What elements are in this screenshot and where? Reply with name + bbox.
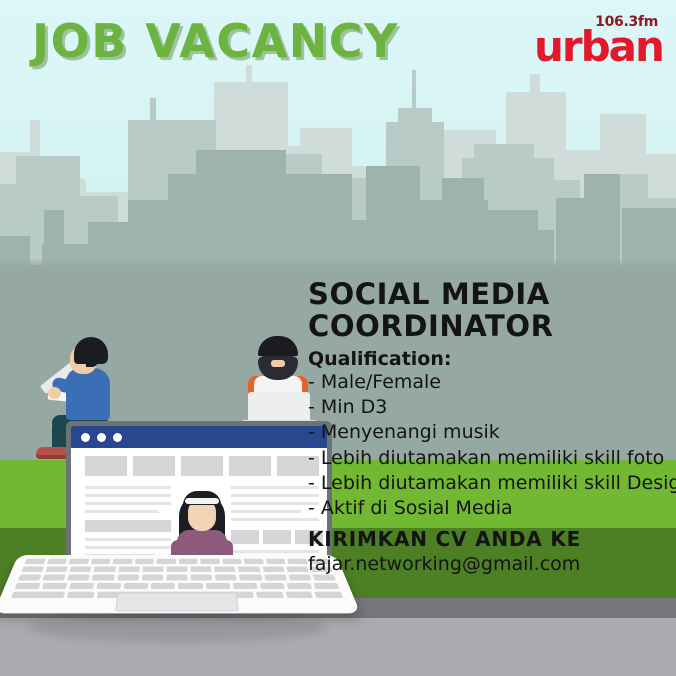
person1-hand [48,387,61,399]
cta-heading: KIRIMKAN CV ANDA KE [308,527,676,551]
list-item: - Lebih diutamakan memiliki skill foto [308,446,676,471]
page-title: JOB VACANCY [32,14,399,68]
list-item: - Min D3 [308,395,676,420]
list-item: - Male/Female [308,370,676,395]
list-item: - Menyenangi musik [308,420,676,445]
contact-block: KIRIMKAN CV ANDA KE fajar.networking@gma… [308,527,676,575]
job-title-line-1: SOCIAL MEDIA [308,278,676,310]
qualification-list: - Male/Female - Min D3 - Menyenangi musi… [308,370,676,522]
list-item: - Lebih diutamakan memiliki skill Design [308,471,676,496]
person2-mouth [271,360,285,367]
browser-dot-icon [97,433,106,442]
laptop-keyboard [3,555,351,591]
list-item: - Aktif di Sosial Media [308,496,676,521]
qualification-heading: Qualification: [308,348,676,370]
radio-brand-name: urban [534,26,663,68]
browser-dot-icon [113,433,122,442]
laptop-shadow [28,612,328,642]
job-vacancy-poster: JOB VACANCY 106.3fm urban [0,0,676,676]
job-title-line-2: COORDINATOR [308,310,676,342]
contact-email[interactable]: fajar.networking@gmail.com [308,553,676,575]
laptop-base [0,555,361,613]
browser-title-bar [71,426,327,448]
person2-hair [258,336,298,356]
job-copy-block: SOCIAL MEDIA COORDINATOR Qualification: … [308,278,676,522]
laptop-trackpad [115,593,239,612]
skyline-layer-near [0,40,676,270]
person1-sideburn [86,345,98,367]
urban-radio-logo: 106.3fm urban [534,12,664,74]
browser-dot-icon [81,433,90,442]
browser-window [66,421,332,573]
woman-headband [185,498,219,504]
